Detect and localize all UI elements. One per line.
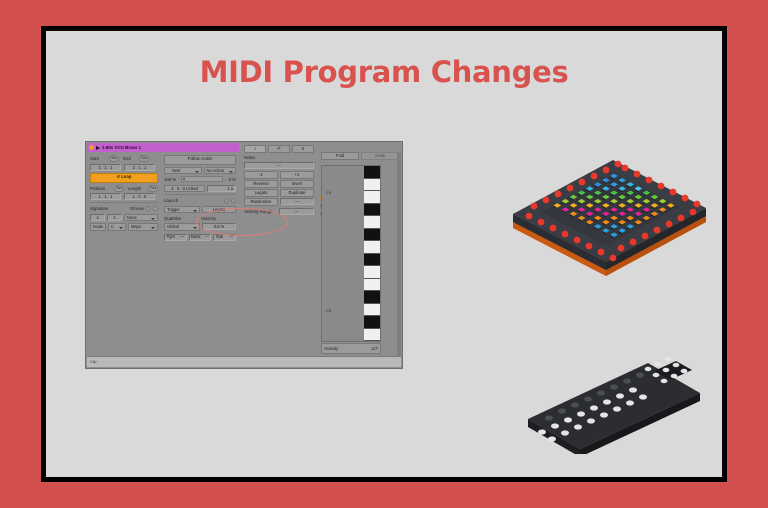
follow-bars-field[interactable]: 1 a [207, 185, 236, 192]
duplicate-button[interactable]: Duplicate [280, 189, 314, 197]
legato-button[interactable]: Legato [202, 206, 236, 214]
follow-chance-slider[interactable] [181, 176, 223, 182]
poster-black-frame: MIDI Program Changes 1-80s VCO Brass 1 S… [41, 26, 727, 482]
page-title: MIDI Program Changes [46, 55, 722, 89]
piano-key[interactable] [364, 216, 380, 229]
piano-key[interactable] [364, 254, 380, 267]
piano-key[interactable] [364, 329, 380, 342]
piano-roll-toolbar: Fold Scale [321, 152, 399, 160]
position-set-button[interactable]: Set [114, 185, 124, 192]
length-label: Length [128, 185, 146, 192]
piano-key[interactable] [364, 266, 380, 279]
quantize-select[interactable]: Global [164, 223, 200, 231]
clip-status-bar: Clip [87, 356, 401, 367]
notes-tab-bar: ♪ ✐ ∨ [244, 145, 314, 153]
program-change-row: Pgm --- Bank --- Sub --- [164, 234, 236, 241]
clip-title-bar[interactable]: 1-80s VCO Brass 1 [87, 143, 239, 152]
launch-mode-select[interactable]: Trigger [164, 206, 200, 214]
follow-time-linked-button[interactable]: 4 . 0 . 0 Linked [164, 185, 205, 193]
follow-chance-b-value[interactable]: 0 % [225, 176, 236, 183]
launchpad-grid-controller[interactable] [501, 136, 716, 276]
bank-label: Bank [191, 234, 200, 240]
end-value-field[interactable]: 2 . 1 . 1 [124, 164, 155, 171]
velocity-label: Velocity [201, 215, 236, 222]
play-triangle-icon[interactable] [96, 146, 100, 150]
poster-canvas: MIDI Program Changes 1-80s VCO Brass 1 S… [46, 31, 722, 477]
clip-dot-icon [89, 145, 94, 150]
randomize-button[interactable]: Randomize [244, 198, 278, 206]
scale-toggle-button[interactable]: Scale [90, 223, 106, 231]
groove-label: Groove [130, 205, 144, 212]
piano-roll-scale-button[interactable]: Scale [361, 152, 399, 160]
signature-label: Signature [90, 205, 108, 212]
position-value-field[interactable]: 1 . 1 . 1 [90, 193, 121, 200]
follow-linked-label: Linked [186, 186, 198, 191]
loop-label: Loop [121, 174, 131, 179]
piano-key[interactable] [364, 166, 380, 179]
velocity-range-label: Velocity Range [244, 208, 277, 215]
piano-key[interactable] [364, 279, 380, 292]
sample-divider [90, 202, 158, 203]
piano-key[interactable] [364, 229, 380, 242]
reverse-button[interactable]: Reverse [244, 180, 278, 188]
launchpad-illustration [501, 136, 716, 276]
launch-velocity-field[interactable]: 0.0 % [202, 223, 236, 230]
clip-name-label: 1-80s VCO Brass 1 [102, 145, 141, 150]
velocity-editor-value[interactable]: 127 [371, 346, 378, 351]
scale-name-select[interactable]: Major [128, 223, 158, 231]
signature-numerator-field[interactable]: 4 [90, 214, 105, 221]
notes-transpose-field[interactable]: --- [244, 162, 314, 169]
position-label: Position [90, 185, 112, 192]
clip-sample-column: Start Set End Set 1 . 1 . 1 2 . 1 . 1 ↺ … [87, 153, 160, 356]
pgm-label: Pgm [167, 234, 175, 240]
invert-button[interactable]: Invert [280, 180, 314, 188]
length-value-field[interactable]: 1 . 0 . 0 [124, 193, 155, 200]
piano-key[interactable] [364, 241, 380, 254]
follow-action-header[interactable]: Follow Action [164, 155, 236, 165]
start-label: Start [90, 155, 107, 162]
piano-key[interactable] [364, 204, 380, 217]
piano-key[interactable] [364, 316, 380, 329]
note-label-low: C3 [326, 308, 331, 313]
tab-expression[interactable]: ∨ [292, 145, 314, 153]
quantize-label: Quantize [164, 215, 199, 222]
launch-option-a-icon[interactable] [224, 198, 230, 204]
loop-toggle-button[interactable]: ↺ Loop [90, 173, 158, 183]
piano-keyboard[interactable] [364, 166, 380, 341]
piano-key[interactable] [364, 191, 380, 204]
ableton-clip-view: 1-80s VCO Brass 1 Start Set End Set 1 . … [85, 141, 403, 369]
clip-vertical-scrollbar[interactable] [397, 153, 401, 356]
sub-value[interactable]: --- [229, 234, 233, 240]
notes-legato-button[interactable]: Legato [244, 189, 278, 197]
poster-background: MIDI Program Changes 1-80s VCO Brass 1 S… [0, 0, 768, 508]
groove-commit-icon[interactable] [146, 206, 152, 212]
end-set-button[interactable]: Set [139, 155, 149, 162]
velocity-editor[interactable]: Velocity 127 [321, 343, 381, 354]
follow-chance-a-value[interactable]: 100 % [164, 176, 179, 183]
note-label-high: C4 [326, 190, 331, 195]
follow-action-b-select[interactable]: No Action [204, 167, 237, 175]
bank-value[interactable]: --- [205, 234, 209, 240]
launch-option-b-icon[interactable] [231, 198, 237, 204]
groove-select[interactable]: None [124, 214, 158, 222]
follow-time-value: 4 . 0 . 0 [171, 186, 185, 191]
clip-notes-column: ♪ ✐ ∨ Notes --- -1 +1 Reverse Invert [241, 143, 317, 356]
midi-controller-illustration [524, 349, 704, 454]
midi-fader-controller[interactable] [524, 349, 704, 454]
scale-root-select[interactable]: C [108, 223, 126, 231]
start-value-field[interactable]: 1 . 1 . 1 [90, 164, 121, 171]
velocity-range-field[interactable]: --- [279, 208, 314, 215]
tab-notes[interactable]: ♪ [244, 145, 266, 153]
piano-key[interactable] [364, 304, 380, 317]
sub-label: Sub [216, 234, 223, 240]
transpose-minus-button[interactable]: -1 [244, 171, 278, 179]
randomize-amount-field[interactable]: --- [280, 198, 314, 205]
piano-roll-grid[interactable]: C4 C3 [321, 165, 381, 342]
tab-envelopes[interactable]: ✐ [268, 145, 290, 153]
length-set-button[interactable]: Set [148, 185, 158, 192]
launch-section-label: Launch [164, 197, 178, 204]
signature-denominator-field[interactable]: 4 [107, 214, 122, 221]
piano-key[interactable] [364, 291, 380, 304]
pgm-value[interactable]: --- [180, 234, 184, 240]
fold-button[interactable]: Fold [321, 152, 359, 160]
launch-divider [164, 194, 236, 195]
transpose-plus-button[interactable]: +1 [280, 171, 314, 179]
start-set-button[interactable]: Set [109, 155, 119, 162]
clip-piano-roll-column: Fold Scale C4 C3 [319, 143, 401, 356]
loop-icon: ↺ [117, 174, 121, 179]
end-label: End [123, 155, 137, 162]
velocity-editor-label: Velocity [324, 346, 338, 351]
groove-hotswap-icon[interactable] [153, 206, 159, 212]
follow-action-a-select[interactable]: Next [164, 167, 202, 175]
piano-key[interactable] [364, 179, 380, 192]
notes-section-label: Notes [244, 155, 314, 160]
clip-launch-column: Follow Action Next No Action 100 % 0 % 4… [161, 153, 239, 356]
